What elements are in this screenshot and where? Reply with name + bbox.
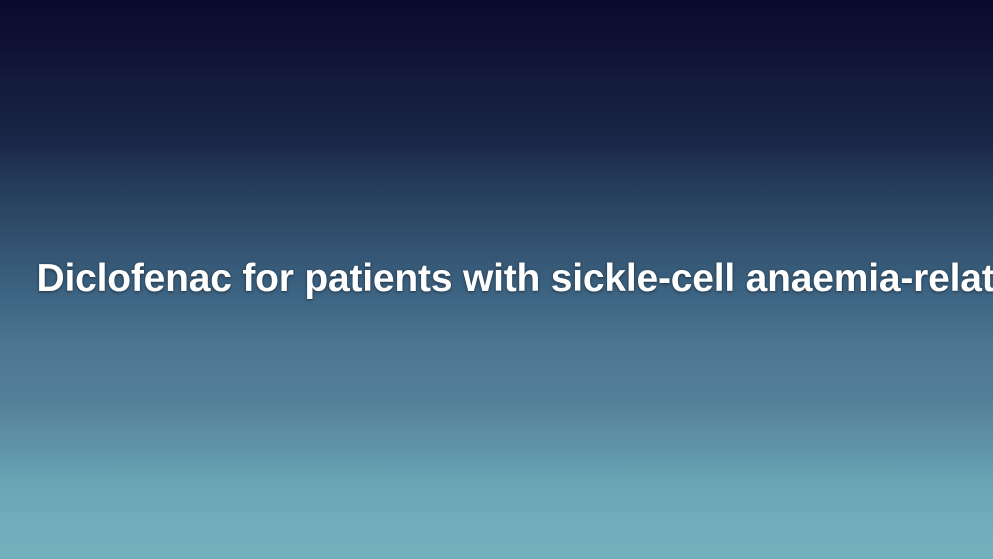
title-block: Diclofenac for patients with sickle-cell… bbox=[0, 0, 993, 559]
page-title: Diclofenac for patients with sickle-cell… bbox=[37, 257, 957, 302]
title-slide: Diclofenac for patients with sickle-cell… bbox=[0, 0, 993, 559]
